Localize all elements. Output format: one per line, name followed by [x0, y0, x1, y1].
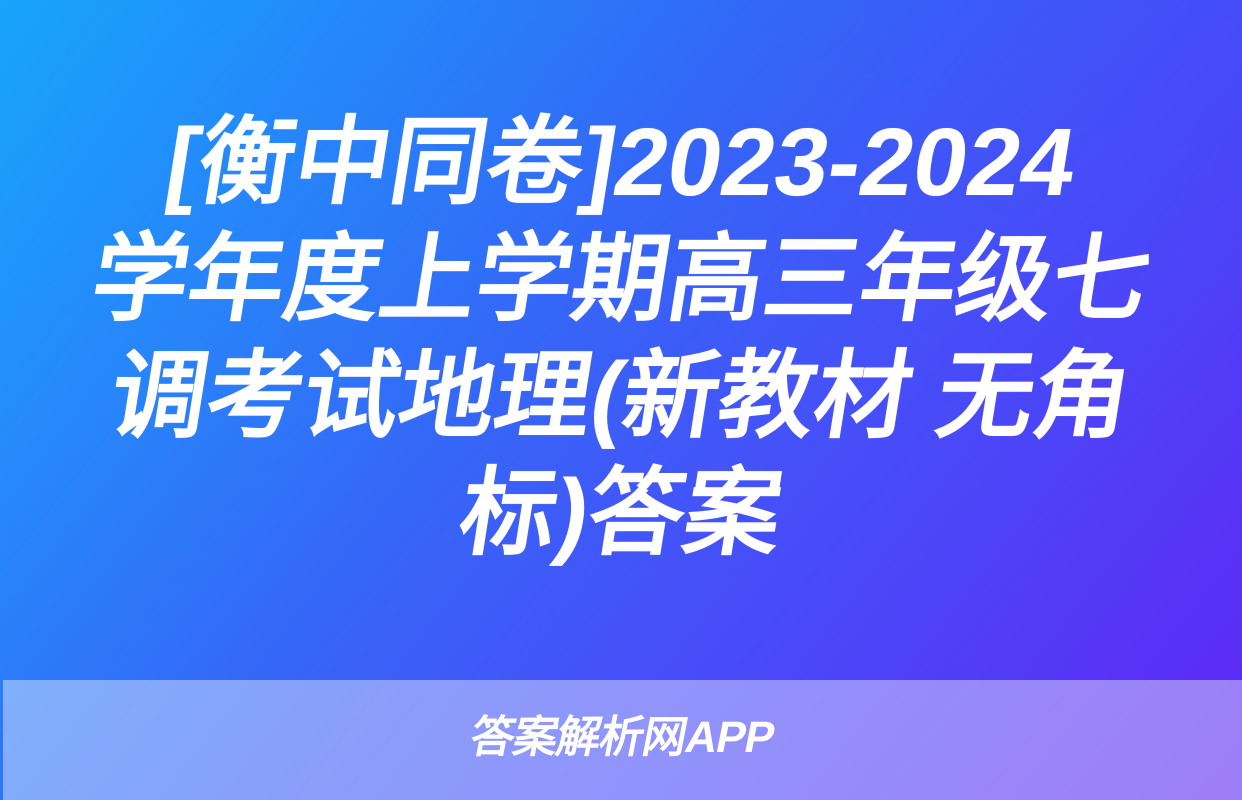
title-card: [衡中同卷]2023-2024 学年度上学期高三年级七 调考试地理(新教材 无角… [0, 0, 1242, 800]
title-line-1: [衡中同卷]2023-2024 [53, 104, 1190, 221]
title-line-4: 标)答案 [53, 455, 1190, 572]
watermark-bar: 答案解析网APP [3, 680, 1242, 800]
title-line-2: 学年度上学期高三年级七 [53, 221, 1190, 338]
page-title: [衡中同卷]2023-2024 学年度上学期高三年级七 调考试地理(新教材 无角… [0, 104, 1242, 572]
watermark-label: 答案解析网APP [467, 716, 778, 760]
title-line-3: 调考试地理(新教材 无角 [53, 338, 1190, 455]
